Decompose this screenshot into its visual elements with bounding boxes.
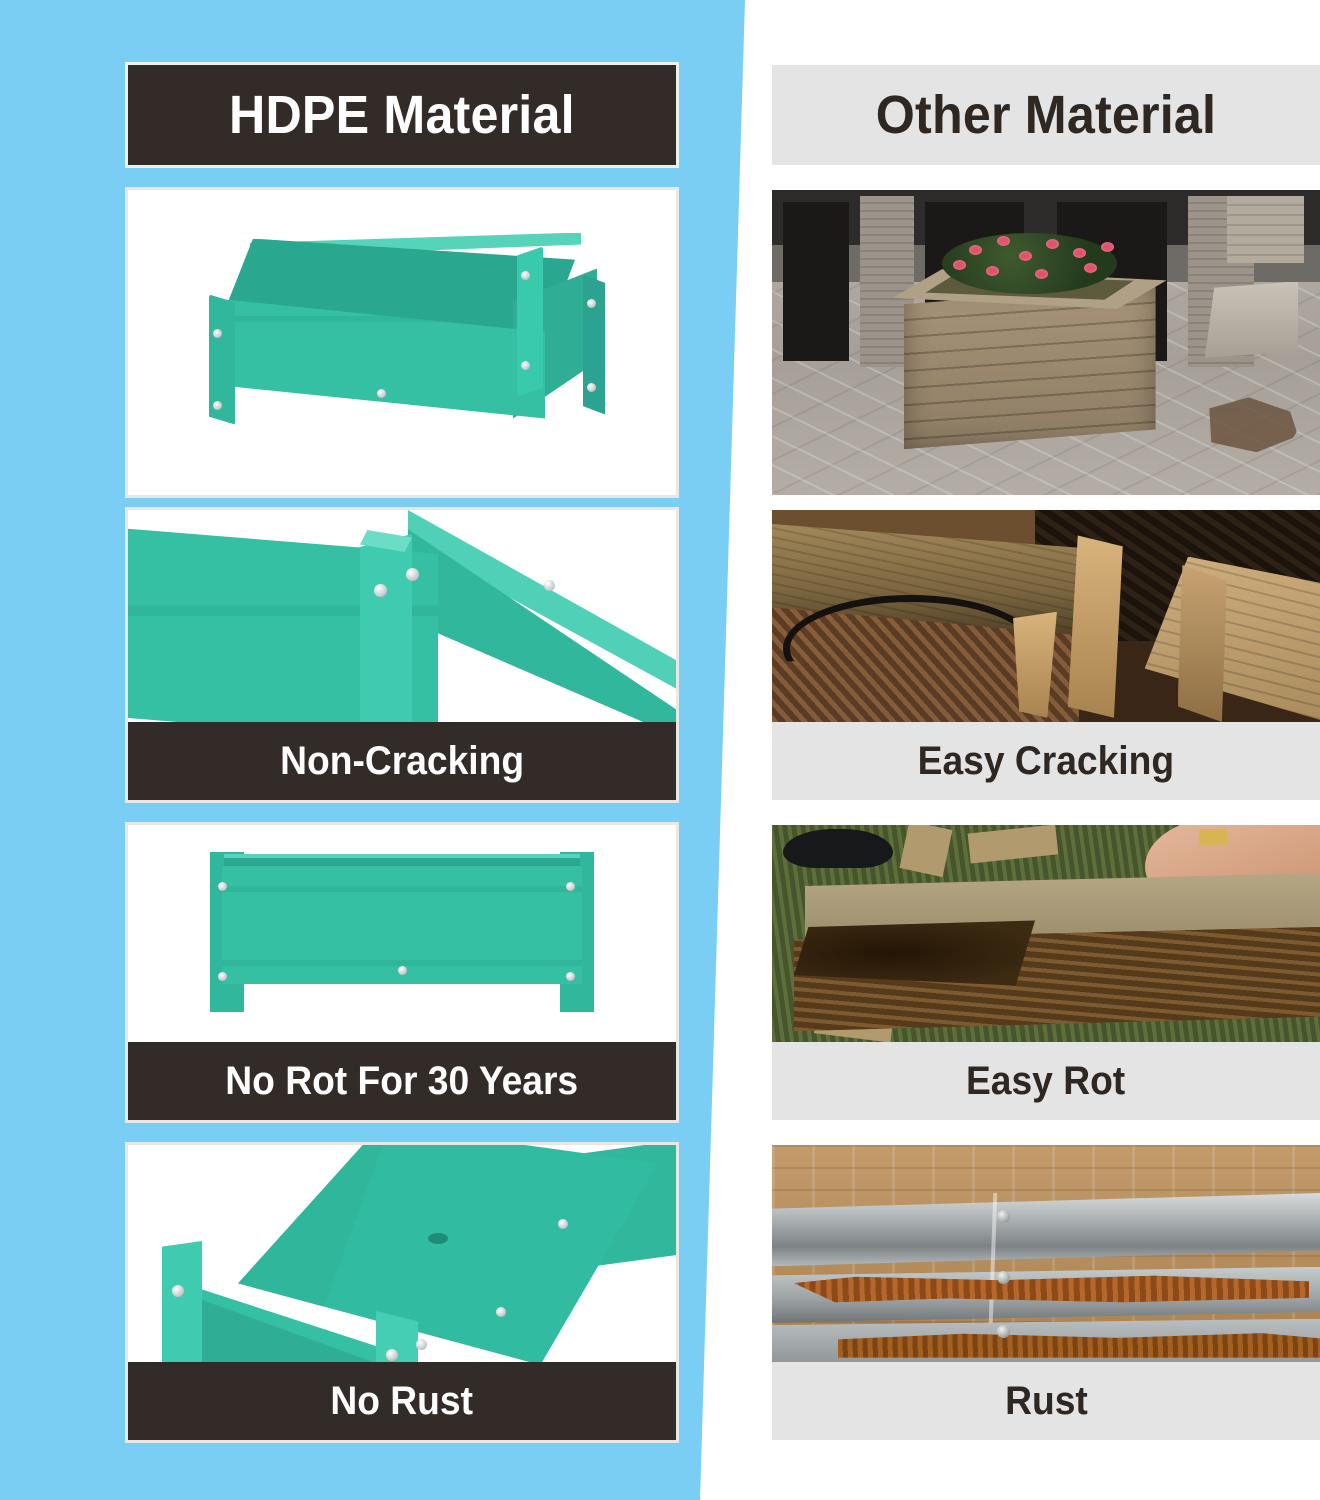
rusted-metal-edging-photo: [772, 1145, 1320, 1362]
hdpe-card-4-label-bar: No Rust: [128, 1362, 676, 1440]
weathered-wood-planter-photo: [772, 190, 1320, 495]
hdpe-card-2: Non-Cracking: [128, 510, 676, 800]
other-card-4-label-bar: Rust: [772, 1362, 1320, 1440]
other-column-header: Other Material: [772, 65, 1320, 165]
hdpe-card-1: [128, 190, 676, 495]
cracked-wood-bed-photo: [772, 510, 1320, 722]
hdpe-card-3-label: No Rot For 30 Years: [226, 1059, 579, 1104]
hdpe-planter-front-view: [128, 825, 676, 1042]
other-card-2: Easy Cracking: [772, 510, 1320, 800]
other-card-3: Easy Rot: [772, 825, 1320, 1120]
rotted-wood-board-photo: [772, 825, 1320, 1042]
hdpe-column-header: HDPE Material: [128, 65, 676, 165]
other-card-3-label-bar: Easy Rot: [772, 1042, 1320, 1120]
hdpe-card-4-label: No Rust: [331, 1379, 474, 1424]
other-card-3-label: Easy Rot: [966, 1059, 1125, 1104]
other-card-4-label: Rust: [1005, 1379, 1088, 1424]
other-card-1: [772, 190, 1320, 495]
hdpe-planter-top-view: [128, 1145, 676, 1362]
hdpe-card-2-label-bar: Non-Cracking: [128, 722, 676, 800]
other-card-2-label-bar: Easy Cracking: [772, 722, 1320, 800]
hdpe-corner-closeup: [128, 510, 676, 722]
hdpe-card-3: No Rot For 30 Years: [128, 825, 676, 1120]
other-material-column: Other Material: [772, 0, 1320, 1500]
hdpe-card-2-label: Non-Cracking: [280, 739, 524, 784]
other-card-2-label: Easy Cracking: [918, 739, 1174, 784]
other-header-label: Other Material: [876, 84, 1216, 146]
hdpe-material-column: HDPE Material: [128, 0, 676, 1500]
hdpe-card-3-label-bar: No Rot For 30 Years: [128, 1042, 676, 1120]
hdpe-header-label: HDPE Material: [229, 84, 575, 146]
hdpe-planter-angled-view: [128, 190, 676, 495]
hdpe-card-4: No Rust: [128, 1145, 676, 1440]
other-card-4: Rust: [772, 1145, 1320, 1440]
